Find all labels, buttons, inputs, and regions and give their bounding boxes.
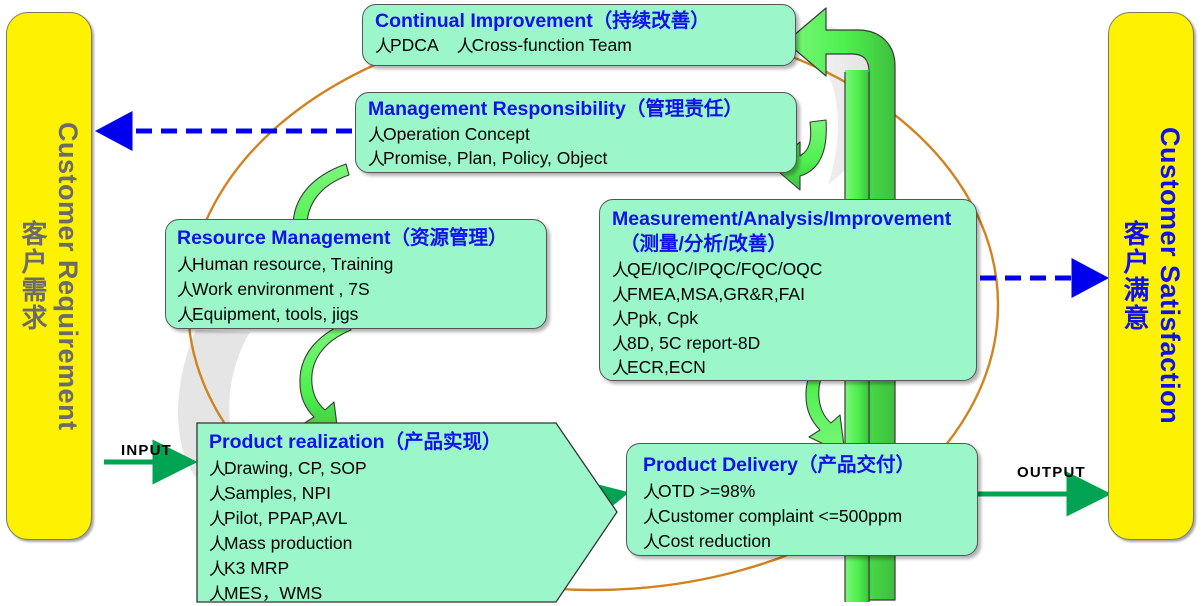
list-item: 人Cross-function Team (457, 33, 632, 57)
list-item-label: Customer complaint <=500ppm (658, 504, 902, 529)
list-item-label: Cost reduction (658, 529, 771, 554)
box-title-en: Product realization (209, 431, 385, 453)
box-title-cn: （持续改善） (593, 10, 710, 32)
box-measurement-analysis-improvement[interactable]: Measurement/Analysis/Improvement （测量/分析/… (599, 199, 977, 381)
box-items: 人Drawing, CP, SOP 人 Samples, NPI 人 Pilot… (209, 456, 502, 606)
box-items: 人Human resource, Training 人Work environm… (177, 252, 546, 327)
box-title-cn: （资源管理） (390, 227, 507, 249)
box-title: Product Delivery（产品交付） (643, 451, 977, 479)
list-item-label: Samples, NPI (224, 481, 331, 506)
person-bullet-icon: 人 (209, 586, 224, 603)
list-item-label: Mass production (224, 531, 352, 556)
box-title-en: Continual Improvement (375, 10, 593, 32)
customer-satisfaction-panel[interactable]: 客户满意 Customer Satisfaction (1108, 12, 1194, 540)
list-item: 人PDCA (375, 33, 439, 57)
box-management-responsibility[interactable]: Management Responsibility（管理责任） 人Operati… (355, 92, 797, 173)
list-item: 人FMEA,MSA,GR&R,FAI (612, 282, 976, 307)
person-bullet-icon: 人 (612, 336, 627, 353)
person-bullet-icon: 人 (643, 509, 658, 526)
box-items: 人Operation Concept 人Promise, Plan, Polic… (368, 122, 796, 170)
input-label: INPUT (121, 442, 172, 459)
list-item: 人Equipment, tools, jigs (177, 302, 546, 327)
list-item: 人 Mass production (209, 531, 502, 556)
person-bullet-icon: 人 (612, 311, 627, 328)
list-item: 人Promise, Plan, Policy, Object (368, 146, 796, 170)
list-item: 人 Samples, NPI (209, 481, 502, 506)
customer-satisfaction-label-cn: 客户满意 (1117, 220, 1154, 332)
person-bullet-icon: 人 (209, 461, 224, 478)
person-bullet-icon: 人 (612, 360, 627, 377)
list-item: 人MES，WMS (209, 581, 502, 606)
list-item-label: Operation Concept (383, 122, 530, 146)
box-product-realization[interactable]: Product realization（产品实现） 人Drawing, CP, … (197, 423, 617, 602)
box-title-en: Measurement/Analysis/Improvement (612, 208, 951, 230)
box-product-delivery[interactable]: Product Delivery（产品交付） 人OTD >=98% 人Custo… (626, 443, 978, 556)
customer-requirement-panel[interactable]: 客户需求 Customer Requirement (6, 12, 92, 540)
box-title-cn: （产品交付） (798, 454, 915, 476)
box-resource-management[interactable]: Resource Management（资源管理） 人Human resourc… (165, 219, 547, 329)
list-item: 人OTD >=98% (643, 479, 977, 504)
list-item: 人Human resource, Training (177, 252, 546, 277)
box-title-en: Management Responsibility (368, 98, 626, 120)
box-items: 人PDCA 人Cross-function Team (375, 33, 795, 57)
box-title-en: Resource Management (177, 227, 390, 249)
list-item-label: Work environment , 7S (192, 277, 370, 302)
person-bullet-icon: 人 (375, 38, 390, 55)
person-bullet-icon: 人 (643, 484, 658, 501)
person-bullet-icon: 人 (209, 536, 224, 553)
person-bullet-icon: 人 (643, 534, 658, 551)
list-item-label: ECR,ECN (627, 355, 706, 380)
list-item: 人QE/IQC/IPQC/FQC/OQC (612, 257, 976, 282)
person-bullet-icon: 人 (368, 127, 383, 144)
list-item-label: 8D, 5C report-8D (627, 331, 760, 356)
list-item-label: Cross-function Team (472, 35, 632, 55)
list-item-label: QE/IQC/IPQC/FQC/OQC (627, 257, 822, 282)
box-title-cn: （产品实现） (385, 431, 502, 453)
person-bullet-icon: 人 (209, 561, 224, 578)
list-item-label: Pilot, PPAP,AVL (224, 506, 348, 531)
list-item: 人ECR,ECN (612, 355, 976, 380)
box-title: Product realization（产品实现） (209, 429, 502, 456)
list-item-label: K3 MRP (224, 556, 289, 581)
person-bullet-icon: 人 (612, 262, 627, 279)
list-item: 人Customer complaint <=500ppm (643, 504, 977, 529)
person-bullet-icon: 人 (209, 511, 224, 528)
list-item-label: Drawing, CP, SOP (224, 456, 367, 481)
box-title-cn: （测量/分析/改善） (612, 231, 976, 257)
box-title: Continual Improvement（持续改善） (375, 10, 795, 33)
list-item: 人8D, 5C report-8D (612, 331, 976, 356)
list-item: 人Cost reduction (643, 529, 977, 554)
diagram-canvas: 客户需求 Customer Requirement 客户满意 Customer … (0, 0, 1204, 604)
output-label: OUTPUT (1017, 464, 1086, 481)
list-item-label: OTD >=98% (658, 479, 755, 504)
list-item-label: Equipment, tools, jigs (192, 302, 358, 327)
list-item-label: Ppk, Cpk (627, 306, 698, 331)
box-title: Management Responsibility（管理责任） (368, 97, 796, 122)
box-title-cn: （管理责任） (626, 98, 743, 120)
list-item: 人K3 MRP (209, 556, 502, 581)
list-item: 人Operation Concept (368, 122, 796, 146)
box-continual-improvement[interactable]: Continual Improvement（持续改善） 人PDCA 人Cross… (362, 4, 796, 66)
person-bullet-icon: 人 (177, 282, 192, 299)
box-items: 人OTD >=98% 人Customer complaint <=500ppm … (643, 479, 977, 554)
person-bullet-icon: 人 (177, 307, 192, 324)
box-items: 人QE/IQC/IPQC/FQC/OQC 人FMEA,MSA,GR&R,FAI … (612, 257, 976, 380)
person-bullet-icon: 人 (457, 38, 472, 55)
customer-requirement-label-en: Customer Requirement (52, 122, 83, 431)
person-bullet-icon: 人 (177, 257, 192, 274)
list-item: 人Work environment , 7S (177, 277, 546, 302)
box-title-en-row: Measurement/Analysis/Improvement (612, 207, 976, 231)
person-bullet-icon: 人 (209, 486, 224, 503)
customer-satisfaction-label-en: Customer Satisfaction (1154, 127, 1185, 424)
person-bullet-icon: 人 (612, 287, 627, 304)
list-item: 人Drawing, CP, SOP (209, 456, 502, 481)
list-item-label: PDCA (390, 35, 439, 55)
box-title: Resource Management（资源管理） (177, 225, 546, 252)
person-bullet-icon: 人 (368, 151, 383, 168)
list-item-label: Promise, Plan, Policy, Object (383, 146, 607, 170)
list-item-label: MES，WMS (224, 581, 322, 606)
customer-requirement-label-cn: 客户需求 (15, 220, 52, 332)
list-item: 人Ppk, Cpk (612, 306, 976, 331)
box-title-en: Product Delivery (643, 454, 798, 476)
list-item-label: Human resource, Training (192, 252, 393, 277)
list-item-label: FMEA,MSA,GR&R,FAI (627, 282, 805, 307)
list-item: 人 Pilot, PPAP,AVL (209, 506, 502, 531)
